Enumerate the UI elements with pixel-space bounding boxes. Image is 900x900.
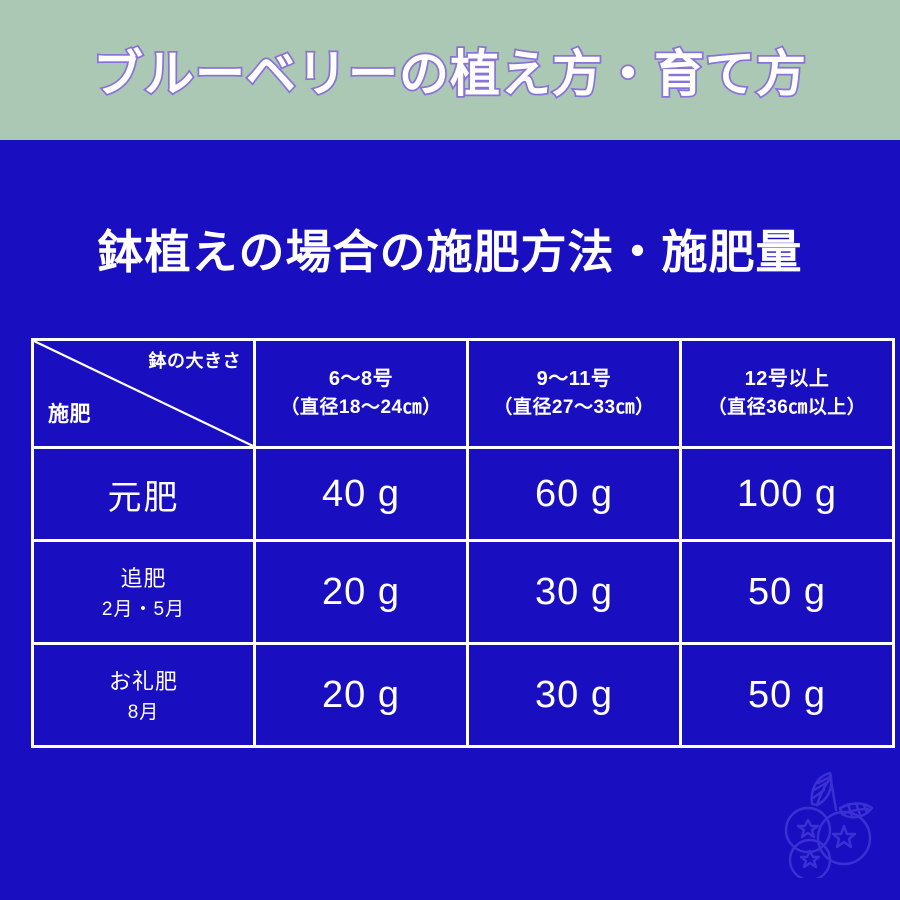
blueberry-icon [772, 768, 882, 878]
column-header-1-name: 6〜8号 [256, 364, 466, 394]
cell-oreigoe-col3: 50 g [681, 644, 894, 747]
row-label-oreigoe: お礼肥 8月 [33, 644, 255, 747]
cell-tsuihi-col3: 50 g [681, 541, 894, 644]
column-header-1: 6〜8号 （直径18〜24㎝） [255, 340, 468, 448]
row-label-motogoe-text: 元肥 [34, 470, 253, 519]
section-title: 鉢植えの場合の施肥方法・施肥量 [0, 216, 900, 282]
table-row: 元肥 40 g 60 g 100 g [33, 448, 894, 541]
row-label-oreigoe-text: お礼肥 [34, 666, 253, 698]
cell-tsuihi-col2: 30 g [468, 541, 681, 644]
row-label-motogoe: 元肥 [33, 448, 255, 541]
row-label-tsuihi-months: 2月・5月 [34, 594, 253, 621]
cell-motogoe-col2: 60 g [468, 448, 681, 541]
page-title: ブルーベリーの植え方・育て方 [93, 34, 807, 106]
row-label-tsuihi: 追肥 2月・5月 [33, 541, 255, 644]
column-header-1-diameter: （直径18〜24㎝） [256, 394, 466, 423]
fertilizer-table: 鉢の大きさ 施肥 6〜8号 （直径18〜24㎝） 9〜11号 （直径27〜33㎝… [31, 338, 895, 748]
table-row: お礼肥 8月 20 g 30 g 50 g [33, 644, 894, 747]
corner-row-axis-label: 施肥 [48, 398, 91, 428]
column-header-2-diameter: （直径27〜33㎝） [469, 394, 679, 423]
header-banner: ブルーベリーの植え方・育て方 [0, 0, 900, 140]
column-header-2-name: 9〜11号 [469, 364, 679, 394]
row-label-oreigoe-months: 8月 [34, 697, 253, 724]
cell-oreigoe-col2: 30 g [468, 644, 681, 747]
table-header-row: 鉢の大きさ 施肥 6〜8号 （直径18〜24㎝） 9〜11号 （直径27〜33㎝… [33, 340, 894, 448]
row-label-tsuihi-text: 追肥 [34, 563, 253, 595]
column-header-3-diameter: （直径36㎝以上） [682, 394, 892, 423]
column-header-2: 9〜11号 （直径27〜33㎝） [468, 340, 681, 448]
table-row: 追肥 2月・5月 20 g 30 g 50 g [33, 541, 894, 644]
cell-motogoe-col3: 100 g [681, 448, 894, 541]
column-header-3: 12号以上 （直径36㎝以上） [681, 340, 894, 448]
corner-column-axis-label: 鉢の大きさ [149, 347, 242, 373]
table-corner-cell: 鉢の大きさ 施肥 [33, 340, 255, 448]
cell-motogoe-col1: 40 g [255, 448, 468, 541]
cell-oreigoe-col1: 20 g [255, 644, 468, 747]
column-header-3-name: 12号以上 [682, 364, 892, 394]
cell-tsuihi-col1: 20 g [255, 541, 468, 644]
